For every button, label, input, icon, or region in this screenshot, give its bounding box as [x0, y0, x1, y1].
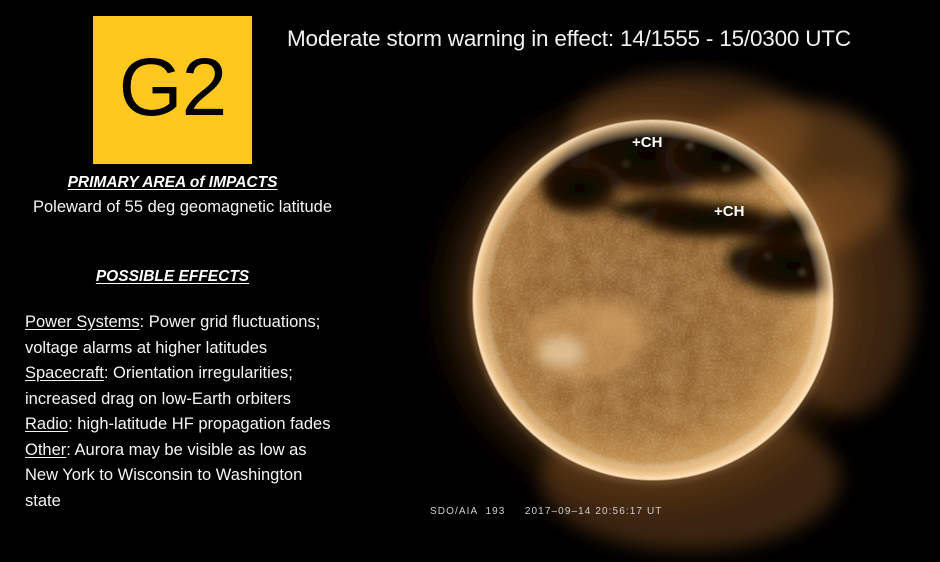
list-item: Power Systems: Power grid fluctuations; …: [25, 310, 335, 361]
effect-label: Spacecraft: [25, 364, 104, 382]
possible-effects-heading: POSSIBLE EFFECTS: [0, 268, 345, 286]
list-item: Other: Aurora may be visible as low as N…: [25, 438, 335, 515]
sdo-image-caption: SDO/AIA 193 2017–09–14 20:56:17 UT: [430, 506, 662, 517]
possible-effects-list: Power Systems: Power grid fluctuations; …: [25, 310, 335, 514]
noaa-space-weather-alert-slide: G2 Moderate storm warning in effect: 14/…: [0, 0, 940, 562]
solar-disk-graphic: [390, 60, 940, 562]
sdo-aia-193-solar-image: [390, 60, 940, 562]
effect-text: high-latitude HF propagation fades: [77, 415, 330, 433]
list-item: Spacecraft: Orientation irregularities; …: [25, 361, 335, 412]
effect-separator: :: [68, 415, 77, 433]
coronal-hole-label: +CH: [714, 203, 744, 220]
effect-label: Radio: [25, 415, 68, 433]
effect-separator: :: [104, 364, 113, 382]
primary-area-value: Poleward of 55 deg geomagnetic latitude: [0, 198, 365, 217]
effect-label: Other: [25, 441, 66, 459]
storm-warning-text: Moderate storm warning in effect: 14/155…: [287, 26, 935, 52]
list-item: Radio: high-latitude HF propagation fade…: [25, 412, 335, 438]
effect-label: Power Systems: [25, 313, 140, 331]
storm-level-text: G2: [119, 47, 226, 129]
effect-separator: :: [140, 313, 149, 331]
g2-storm-level-badge: G2: [93, 16, 252, 164]
coronal-hole-label: +CH: [632, 134, 662, 151]
primary-area-heading: PRIMARY AREA of IMPACTS: [0, 174, 345, 192]
effect-separator: :: [66, 441, 74, 459]
